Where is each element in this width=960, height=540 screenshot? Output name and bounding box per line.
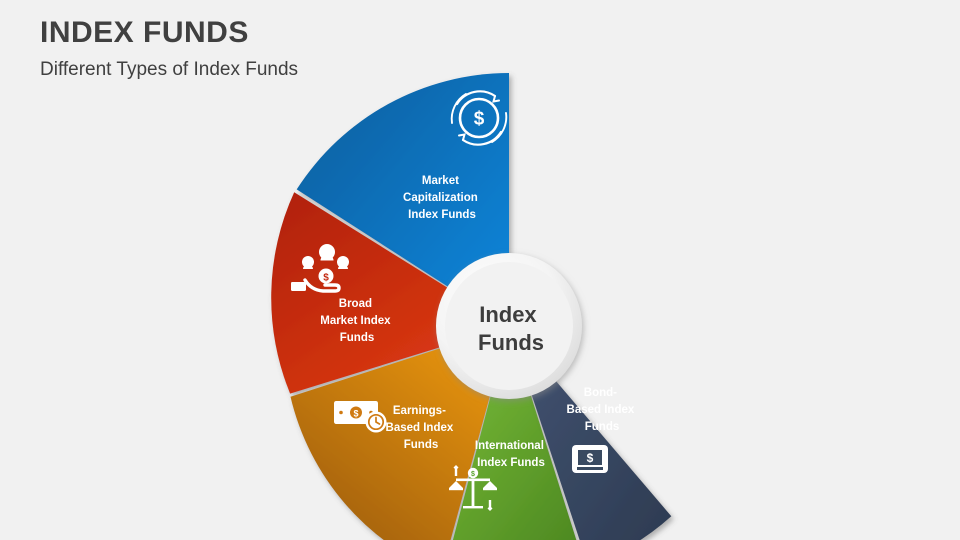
svg-text:$: $: [323, 273, 329, 284]
diagram-hub[interactable]: Index Funds: [436, 253, 582, 399]
index-funds-donut-diagram: $ Market Capitalization Index Funds: [0, 0, 960, 540]
svg-text:$: $: [353, 408, 358, 418]
svg-text:$: $: [587, 451, 594, 465]
svg-text:$: $: [471, 471, 475, 478]
cash-stack-icon: $: [572, 445, 608, 473]
svg-text:$: $: [474, 109, 485, 130]
slide-canvas: INDEX FUNDS Different Types of Index Fun…: [0, 0, 960, 540]
